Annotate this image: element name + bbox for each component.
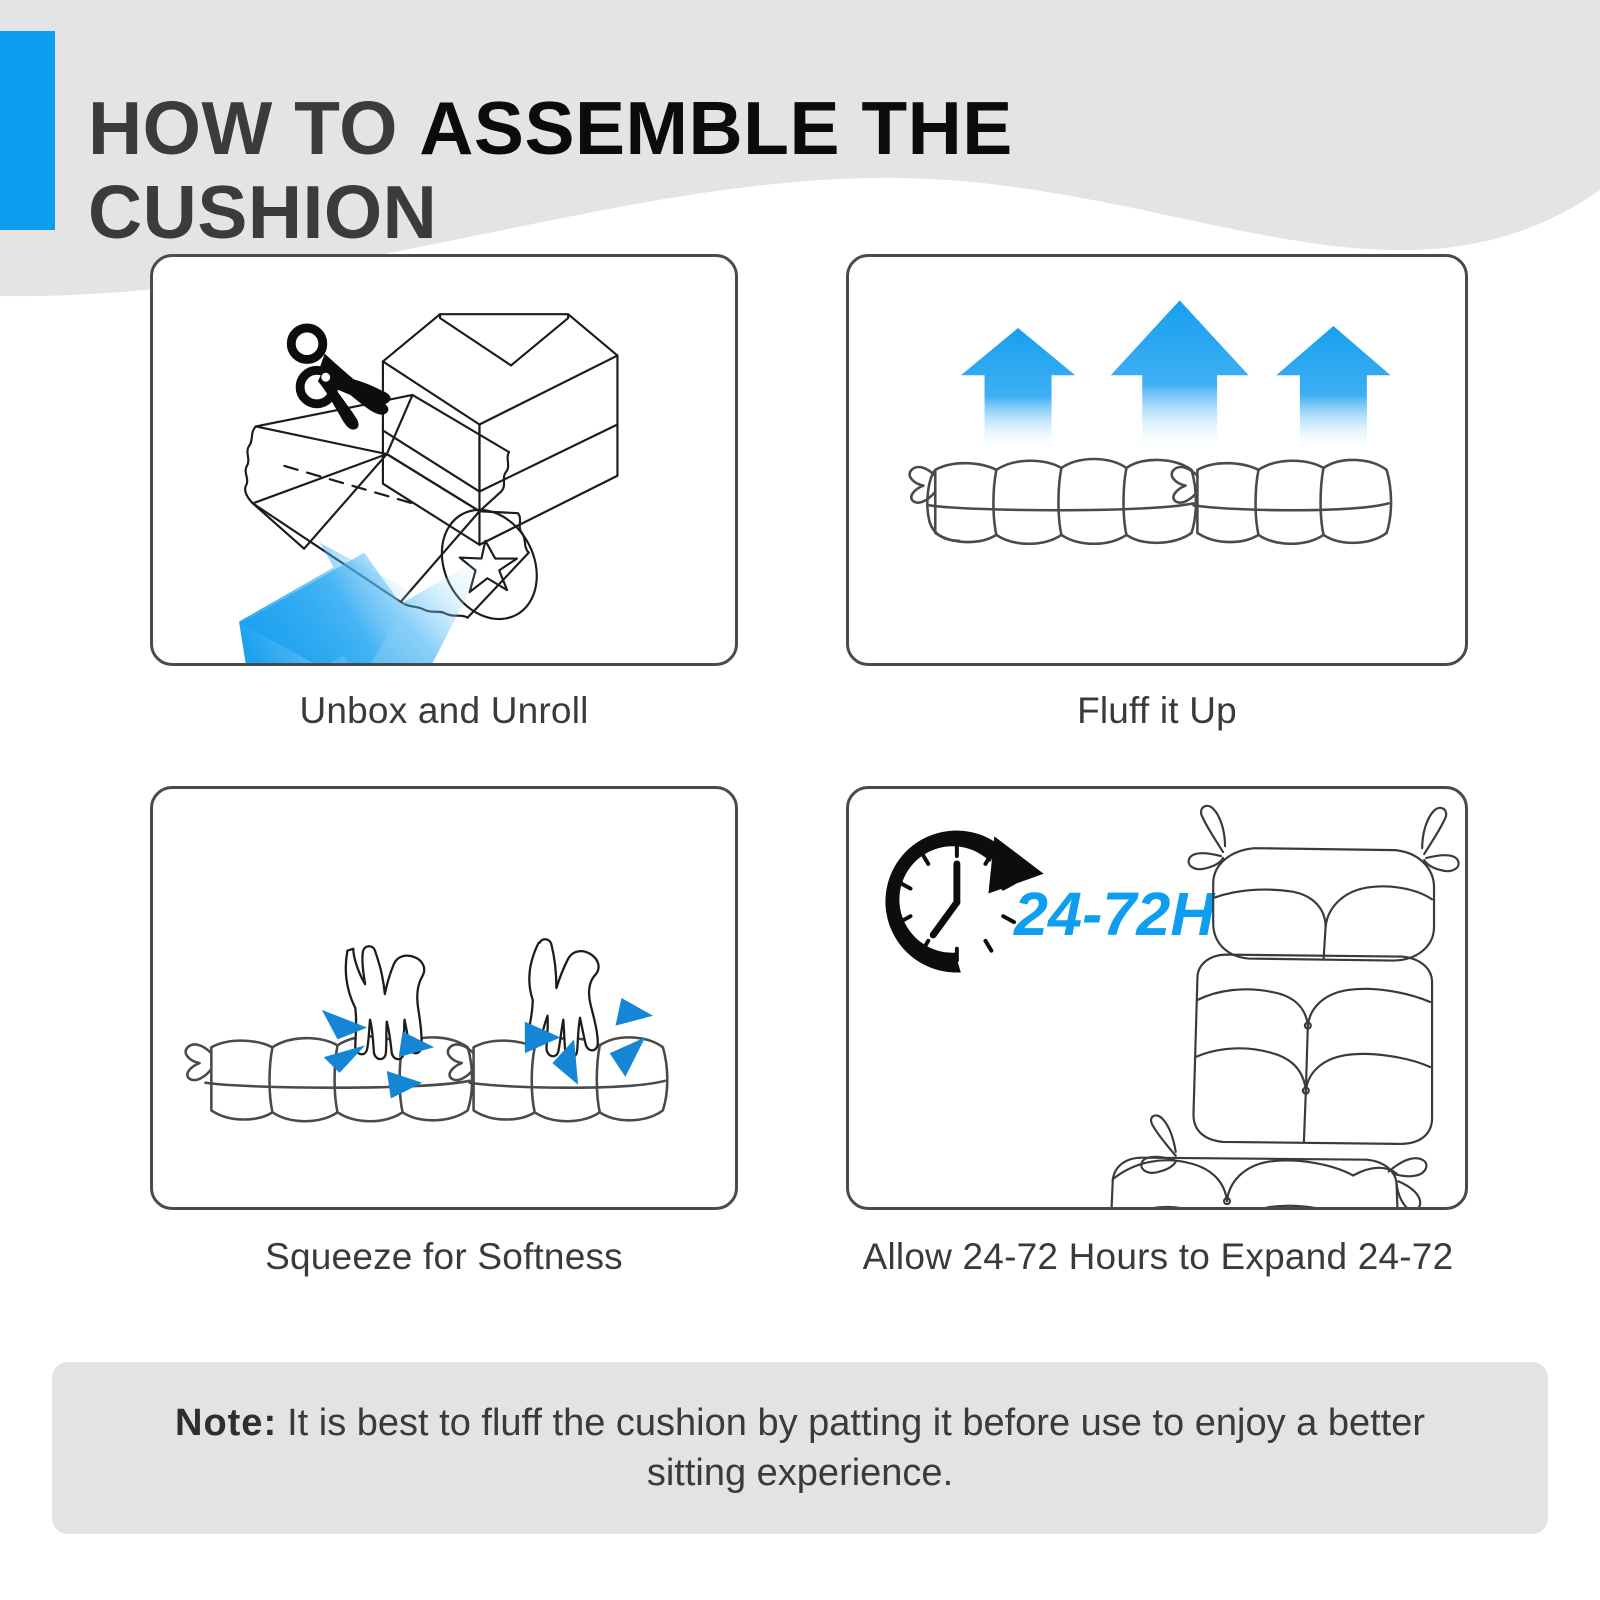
squeeze-illustration: [153, 789, 735, 1207]
step-caption-4: Allow 24-72 Hours to Expand 24-72: [820, 1236, 1496, 1278]
fluff-illustration: [849, 257, 1465, 663]
step-caption-1: Unbox and Unroll: [150, 690, 738, 732]
blue-arrow-up-icon: [1111, 300, 1249, 452]
title-segment-2: ASSEMBLE THE: [419, 86, 1013, 170]
blue-triangle-arrow-icon: [387, 1071, 422, 1099]
note-content: Note:It is best to fluff the cushion by …: [106, 1398, 1494, 1498]
blue-arrow-down-left-icon: [239, 543, 489, 663]
step-caption-3: Squeeze for Softness: [150, 1236, 738, 1278]
blue-triangle-arrow-icon: [610, 1037, 645, 1076]
title-segment-3: CUSHION: [88, 170, 437, 254]
step-panel-fluff-it-up[interactable]: [846, 254, 1468, 666]
blue-arrow-up-icon: [1276, 326, 1390, 452]
step-caption-2: Fluff it Up: [846, 690, 1468, 732]
blue-arrow-up-icon: [961, 328, 1075, 452]
note-label: Note:: [175, 1402, 277, 1444]
note-box: Note:It is best to fluff the cushion by …: [52, 1362, 1548, 1534]
expand-time-badge: 24-72H: [1013, 880, 1216, 948]
blue-up-arrows-group: [961, 300, 1391, 452]
tufted-chair-cushion-icon: [1111, 806, 1459, 1207]
step-panel-squeeze-for-softness[interactable]: [150, 786, 738, 1210]
accent-bar: [0, 31, 55, 230]
unbox-illustration: [153, 257, 735, 663]
step-panel-allow-hours-to-expand[interactable]: 24-72H: [846, 786, 1468, 1210]
page-title: HOW TO ASSEMBLE THECUSHION: [88, 86, 1288, 254]
blue-triangle-arrow-icon: [324, 1045, 365, 1073]
step-panel-unbox-and-unroll[interactable]: [150, 254, 738, 666]
rolled-cushion-icon: [910, 459, 1391, 544]
shipping-box-icon: [383, 314, 618, 545]
note-text: It is best to fluff the cushion by patti…: [287, 1402, 1425, 1494]
title-segment-1: HOW TO: [88, 86, 419, 170]
blue-triangle-arrow-icon: [616, 998, 653, 1026]
expand-illustration: 24-72H: [849, 789, 1465, 1207]
scissors-icon: [291, 328, 390, 430]
